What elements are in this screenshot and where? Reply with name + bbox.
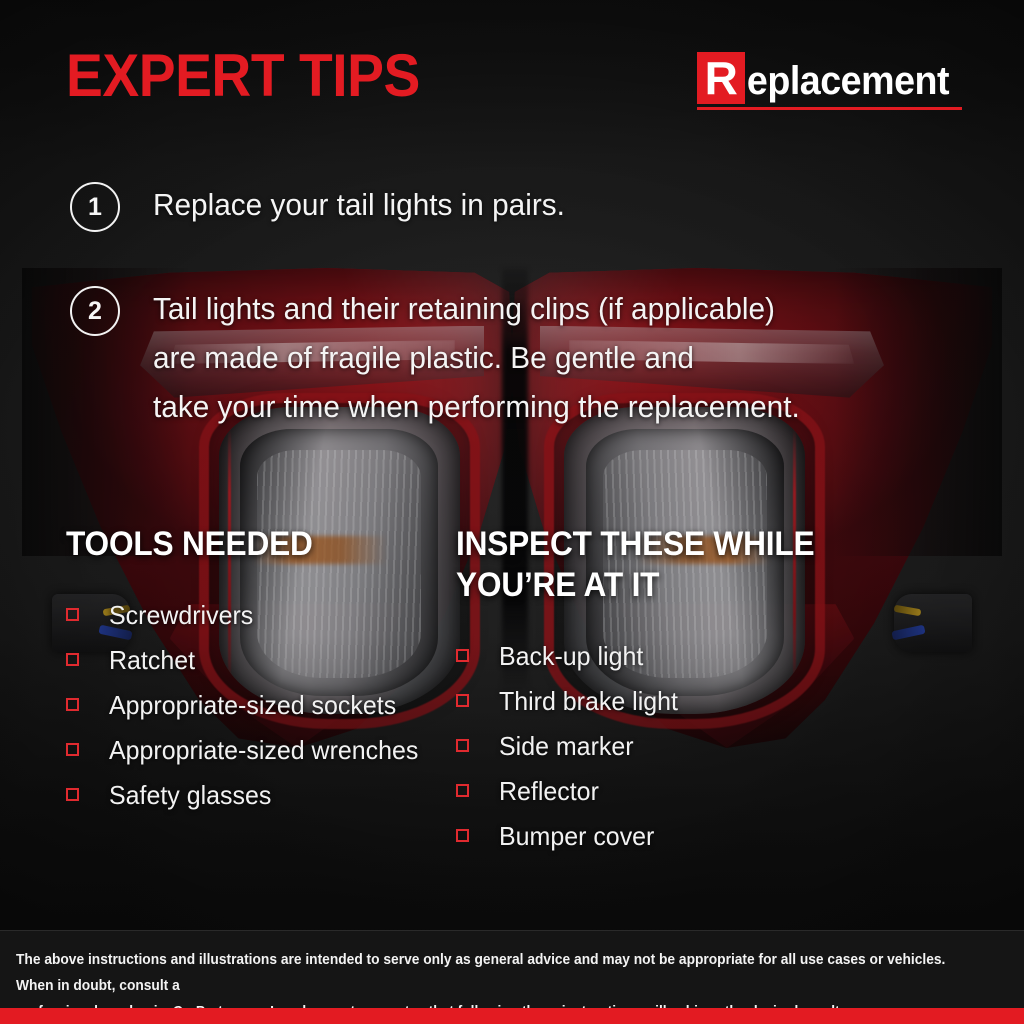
checkbox-icon [456, 649, 469, 662]
expert-tips-infographic: EXPERT TIPS R eplacement 1 Replace your … [0, 0, 1024, 1024]
footer-accent-bar [0, 1008, 1024, 1024]
tip-text: Tail lights and their retaining clips (i… [153, 284, 800, 431]
list-item: Screwdrivers [66, 592, 466, 637]
list-item-label: Appropriate-sized wrenches [109, 735, 418, 765]
list-item: Back-up light [456, 633, 856, 678]
tools-needed-column: TOOLS NEEDED Screwdrivers Ratchet Approp… [66, 524, 466, 817]
list-item-label: Screwdrivers [109, 600, 253, 630]
tip-text: Replace your tail lights in pairs. [153, 180, 565, 229]
checkbox-icon [66, 608, 79, 621]
list-item: Reflector [456, 768, 856, 813]
inspect-these-column: INSPECT THESE WHILE YOU’RE AT IT Back-up… [456, 524, 856, 858]
checkbox-icon [66, 743, 79, 756]
checkbox-icon [456, 739, 469, 752]
list-item-label: Appropriate-sized sockets [109, 690, 396, 720]
logo-badge-letter: R [697, 52, 745, 104]
replacement-logo: R eplacement [697, 52, 962, 110]
list-item: Ratchet [66, 637, 466, 682]
checkbox-icon [66, 653, 79, 666]
list-item-label: Safety glasses [109, 780, 271, 810]
logo-underline [697, 107, 962, 110]
tools-needed-heading: TOOLS NEEDED [66, 524, 438, 565]
tip-number-badge: 2 [70, 286, 120, 336]
list-item-label: Back-up light [499, 641, 643, 671]
tip-item-2: 2 Tail lights and their retaining clips … [70, 284, 827, 431]
tools-needed-list: Screwdrivers Ratchet Appropriate-sized s… [66, 592, 466, 817]
checkbox-icon [456, 784, 469, 797]
list-item: Safety glasses [66, 772, 466, 817]
list-item-label: Side marker [499, 731, 634, 761]
list-item-label: Bumper cover [499, 821, 654, 851]
checkbox-icon [66, 788, 79, 801]
logo-row: R eplacement [697, 52, 962, 104]
tip-number-badge: 1 [70, 182, 120, 232]
checkbox-icon [66, 698, 79, 711]
tip-item-1: 1 Replace your tail lights in pairs. [70, 180, 582, 232]
page-title: EXPERT TIPS [66, 46, 420, 106]
list-item: Side marker [456, 723, 856, 768]
inspect-these-list: Back-up light Third brake light Side mar… [456, 633, 856, 858]
list-item: Bumper cover [456, 813, 856, 858]
list-item: Third brake light [456, 678, 856, 723]
list-item-label: Reflector [499, 776, 599, 806]
checkbox-icon [456, 829, 469, 842]
list-item-label: Third brake light [499, 686, 678, 716]
list-item-label: Ratchet [109, 645, 195, 675]
logo-word: eplacement [745, 58, 949, 104]
list-item: Appropriate-sized wrenches [66, 727, 466, 772]
list-item: Appropriate-sized sockets [66, 682, 466, 727]
inspect-these-heading: INSPECT THESE WHILE YOU’RE AT IT [456, 524, 828, 606]
footer-disclaimer-bar: The above instructions and illustrations… [0, 930, 1024, 1008]
content-layer: EXPERT TIPS R eplacement 1 Replace your … [0, 0, 1024, 1024]
checkbox-icon [456, 694, 469, 707]
